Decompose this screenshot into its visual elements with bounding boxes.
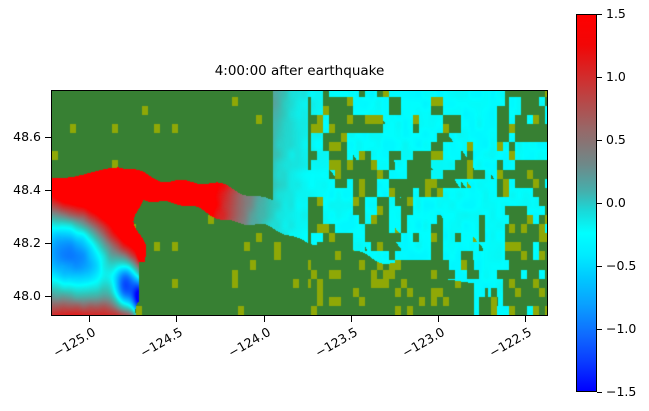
colorbar-tick-mark [597, 14, 602, 15]
x-tick-label: −124.0 [224, 325, 272, 360]
x-tick-label: −122.5 [486, 325, 534, 360]
colorbar-tick-label: 1.0 [606, 70, 626, 83]
colorbar-tick-label: −1.5 [606, 385, 636, 398]
x-tick-mark [438, 316, 439, 322]
x-tick-label: −123.5 [311, 325, 359, 360]
x-tick-mark [176, 316, 177, 322]
colorbar-tick-mark [597, 77, 602, 78]
colorbar-tick-mark [597, 140, 602, 141]
y-tick-mark [45, 190, 51, 191]
plot-title: 4:00:00 after earthquake [51, 62, 548, 80]
x-tick-mark [264, 316, 265, 322]
x-tick-label: −125.0 [50, 325, 98, 360]
colorbar-tick-label: 0.5 [606, 133, 626, 146]
x-tick-mark [351, 316, 352, 322]
colorbar-gradient [576, 14, 597, 392]
colorbar-tick-label: 0.0 [606, 196, 626, 209]
y-tick-mark [45, 296, 51, 297]
colorbar-tick-mark [597, 266, 602, 267]
y-tick-label: 48.2 [0, 236, 41, 249]
colorbar-tick-mark [597, 203, 602, 204]
y-tick-mark [45, 137, 51, 138]
colorbar-tick-label: −0.5 [606, 259, 636, 272]
x-tick-mark [89, 316, 90, 322]
y-tick-label: 48.4 [0, 183, 41, 196]
colorbar-tick-mark [597, 329, 602, 330]
colorbar-tick-label: 1.5 [606, 7, 626, 20]
y-tick-label: 48.0 [0, 289, 41, 302]
x-tick-label: −124.5 [137, 325, 185, 360]
y-tick-mark [45, 243, 51, 244]
tsunami-elevation-heatmap [52, 91, 547, 315]
y-tick-label: 48.6 [0, 130, 41, 143]
map-axes [51, 90, 548, 316]
x-tick-label: −123.0 [398, 325, 446, 360]
colorbar-tick-label: −1.0 [606, 322, 636, 335]
colorbar-tick-mark [597, 392, 602, 393]
figure-canvas: 4:00:00 after earthquake 48.048.248.448.… [0, 0, 649, 411]
x-tick-mark [525, 316, 526, 322]
